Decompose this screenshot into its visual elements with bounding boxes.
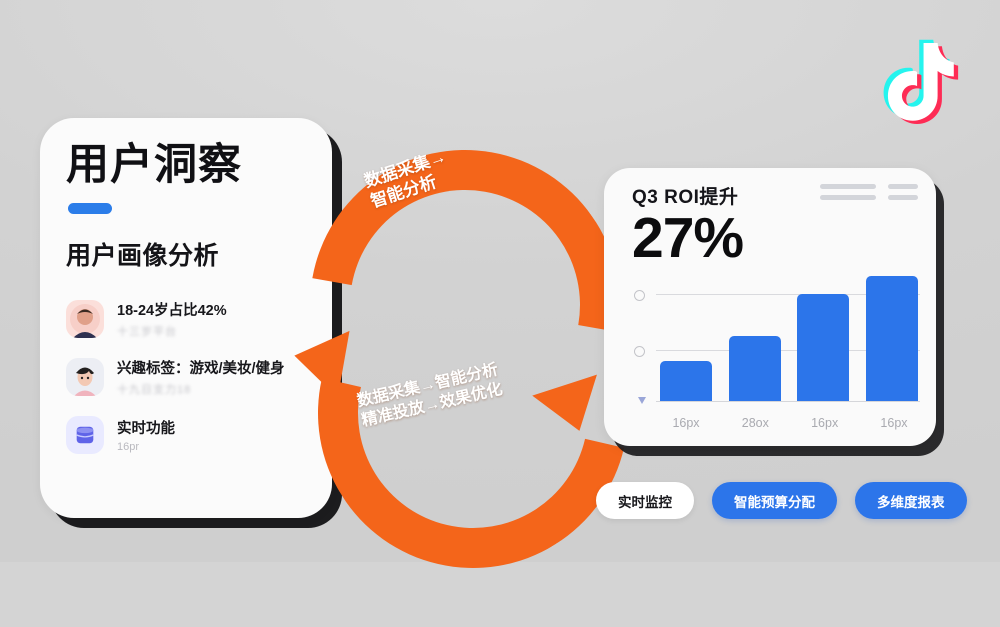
list-item-heading: 18-24岁占比42% <box>117 299 227 320</box>
database-icon <box>66 416 104 454</box>
chart-plot-area <box>634 264 920 402</box>
x-label-2: 16px <box>799 416 851 430</box>
legend-group-right <box>888 184 918 200</box>
card-subtitle: 用户画像分析 <box>66 236 308 272</box>
legend-bar <box>820 184 876 189</box>
poster-canvas: 用户洞察 用户画像分析 18-24岁占比42% 十三 <box>0 0 1000 562</box>
legend-group-left <box>820 184 876 200</box>
chart-x-axis-labels: 16px 28ox 16px 16px <box>660 416 920 430</box>
bar-0[interactable] <box>660 361 712 401</box>
legend-bar <box>820 195 876 200</box>
legend-bar <box>888 184 918 189</box>
y-axis-tick <box>634 290 645 301</box>
chart-legend-placeholder <box>820 184 918 200</box>
feature-pill-group: 实时监控 智能预算分配 多维度报表 <box>596 482 967 519</box>
pill-realtime-monitor[interactable]: 实时监控 <box>596 482 694 519</box>
list-item-sub: 16pr <box>117 441 175 453</box>
title-accent-bar <box>68 203 112 214</box>
chart-baseline <box>656 401 920 403</box>
list-item-heading: 实时功能 <box>117 417 175 438</box>
page-title: 用户洞察 <box>66 144 308 187</box>
roi-chart-card: Q3 ROI提升 27% <box>604 168 936 446</box>
list-item[interactable]: 兴趣标签：游戏/美妆/健身 十九日支力18 <box>66 348 308 406</box>
x-label-3: 16px <box>868 416 920 430</box>
pill-multidim-report[interactable]: 多维度报表 <box>855 482 967 519</box>
y-axis-arrow-icon <box>638 397 646 404</box>
x-label-1: 28ox <box>729 416 781 430</box>
bar-1[interactable] <box>729 336 781 400</box>
list-item[interactable]: 实时功能 16pr <box>66 406 308 464</box>
chart-kpi-value: 27% <box>632 211 743 265</box>
insight-list: 18-24岁占比42% 十三岁平台 <box>66 290 308 464</box>
y-axis-tick <box>634 346 645 357</box>
chart-bars <box>660 264 918 401</box>
chart-header: Q3 ROI提升 27% <box>632 182 743 265</box>
list-item-sub: 十九日支力18 <box>117 381 285 397</box>
avatar-male-icon <box>66 300 104 338</box>
list-item-sub: 十三岁平台 <box>117 323 227 339</box>
tiktok-logo <box>862 30 970 138</box>
avatar-female-icon <box>66 358 104 396</box>
process-cycle-diagram: 数据采集→ 智能分析 数据采集→智能分析 精准投放→效果优化 <box>300 140 590 500</box>
bar-2[interactable] <box>797 294 849 400</box>
list-item-heading: 兴趣标签：游戏/美妆/健身 <box>117 357 285 378</box>
list-item[interactable]: 18-24岁占比42% 十三岁平台 <box>66 290 308 348</box>
bar-3[interactable] <box>866 276 918 400</box>
x-label-0: 16px <box>660 416 712 430</box>
user-insight-card: 用户洞察 用户画像分析 18-24岁占比42% 十三 <box>40 118 332 518</box>
legend-bar <box>888 195 918 200</box>
chart-title: Q3 ROI提升 <box>632 182 743 209</box>
pill-smart-budget[interactable]: 智能预算分配 <box>712 482 837 519</box>
